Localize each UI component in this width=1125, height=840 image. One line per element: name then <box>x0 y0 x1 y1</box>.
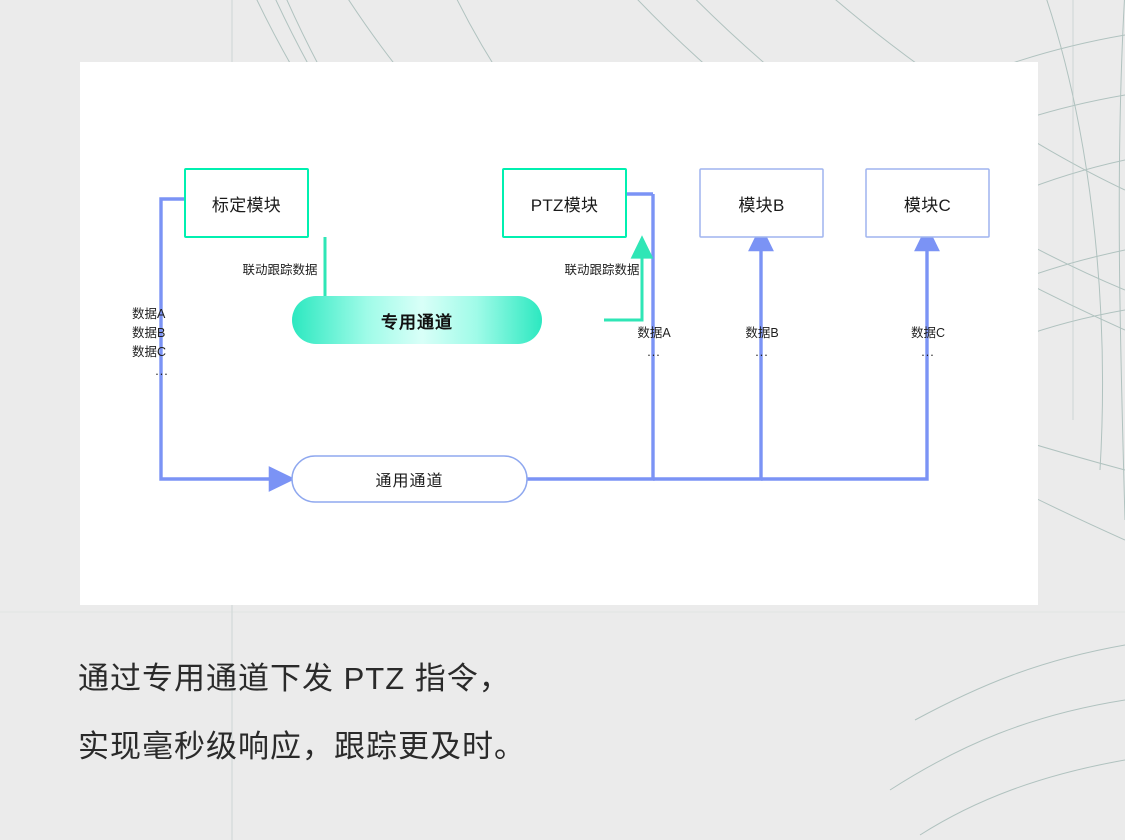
caption-block: 通过专用通道下发 PTZ 指令， 实现毫秒级响应，跟踪更及时。 <box>78 645 978 781</box>
channel-pill-general[interactable] <box>292 456 527 502</box>
caption-line-2: 实现毫秒级响应，跟踪更及时。 <box>78 713 978 781</box>
edge-calibration-to-general-channel <box>161 199 283 479</box>
architecture-diagram <box>80 62 1038 605</box>
edge-general-channel-to-module-c <box>761 237 927 479</box>
channel-pill-special[interactable] <box>292 296 542 344</box>
caption-line-1: 通过专用通道下发 PTZ 指令， <box>78 645 978 713</box>
module-box-calibration[interactable] <box>185 169 308 237</box>
module-box-ptz[interactable] <box>503 169 626 237</box>
module-box-c[interactable] <box>866 169 989 237</box>
module-box-b[interactable] <box>700 169 823 237</box>
diagram-card: 标定模块 PTZ模块 模块B 模块C 专用通道 通用通道 联动跟踪数据 联动跟踪… <box>80 62 1038 605</box>
edge-general-channel-to-module-b <box>653 237 761 479</box>
edge-special-channel-to-ptz <box>604 246 642 320</box>
